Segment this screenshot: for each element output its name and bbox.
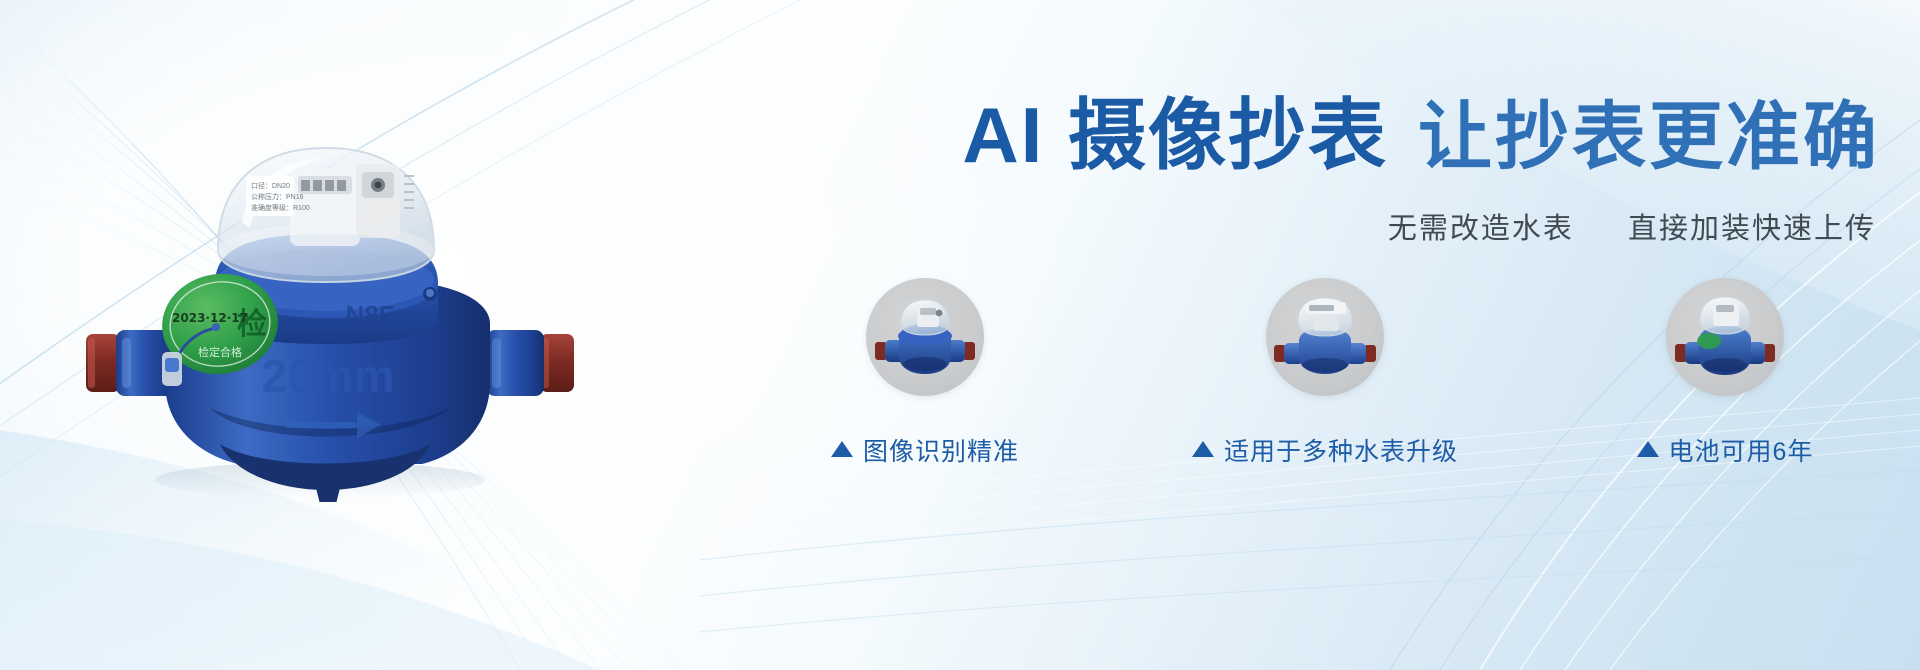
headline-secondary: 让抄表更准确 xyxy=(1418,100,1880,174)
water-meter-thumbnail-1[interactable] xyxy=(866,278,984,396)
triangle-bullet-icon xyxy=(1637,441,1659,457)
feature-label: 图像识别精准 xyxy=(863,432,1019,468)
promo-banner: 20mm N8F xyxy=(0,0,1920,670)
feature-item[interactable]: 适用于多种水表升级 xyxy=(1160,278,1490,468)
feature-caption: 适用于多种水表升级 xyxy=(1192,432,1458,468)
triangle-bullet-icon xyxy=(831,441,853,457)
feature-label: 电池可用6年 xyxy=(1669,432,1814,468)
subtitle: 无需改造水表 直接加装快速上传 xyxy=(1388,205,1876,247)
feature-item[interactable]: 图像识别精准 xyxy=(760,278,1090,468)
subtitle-part-2: 直接加装快速上传 xyxy=(1628,213,1876,245)
feature-label: 适用于多种水表升级 xyxy=(1224,432,1458,468)
feature-caption: 图像识别精准 xyxy=(831,432,1019,468)
feature-caption: 电池可用6年 xyxy=(1637,432,1814,468)
water-meter-thumbnail-2[interactable] xyxy=(1266,278,1384,396)
water-meter-thumbnail-3[interactable] xyxy=(1666,278,1784,396)
headline: AI 摄像抄表 让抄表更准确 xyxy=(962,96,1880,174)
headline-primary: AI 摄像抄表 xyxy=(962,96,1388,174)
feature-list: 图像识别精准 xyxy=(760,278,1890,528)
feature-item[interactable]: 电池可用6年 xyxy=(1560,278,1890,468)
copy-block: AI 摄像抄表 让抄表更准确 无需改造水表 直接加装快速上传 xyxy=(0,0,1920,670)
triangle-bullet-icon xyxy=(1192,441,1214,457)
subtitle-part-1: 无需改造水表 xyxy=(1388,213,1574,245)
